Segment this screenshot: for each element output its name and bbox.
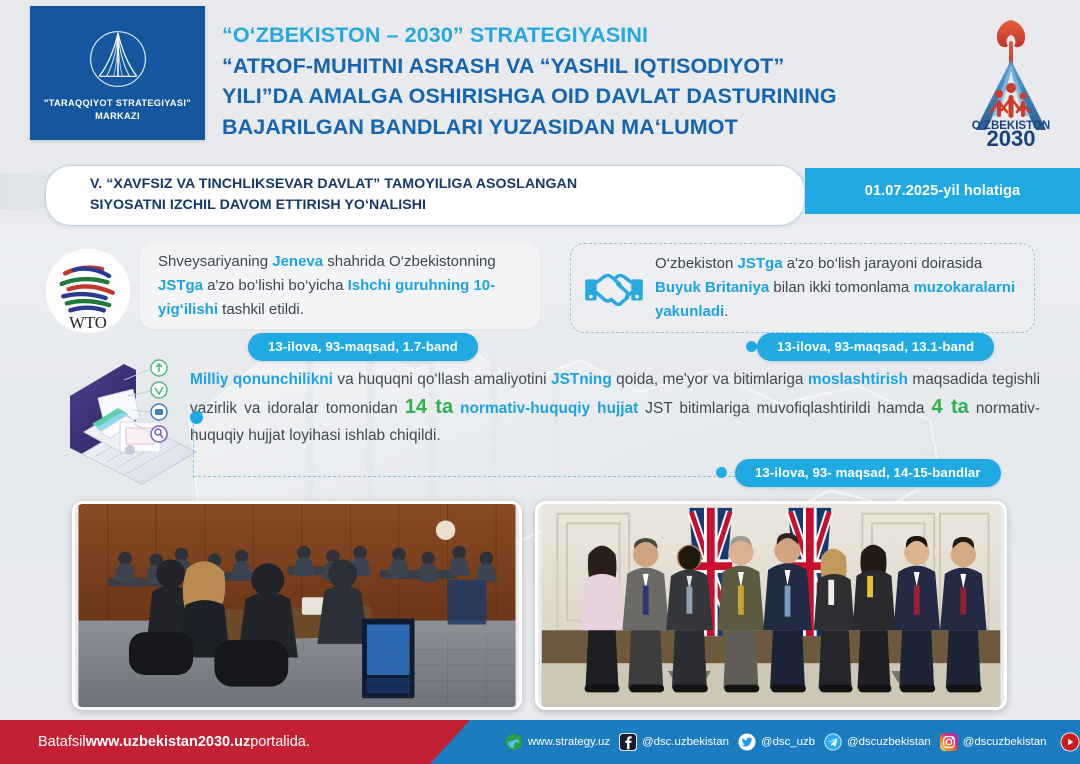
txt-hl: Jeneva: [272, 253, 323, 270]
badge-reference-3: 13-ilova, 93- maqsad, 14-15-bandlar: [735, 459, 1001, 487]
social-link-facebook[interactable]: @dsc.uzbekistan: [619, 733, 729, 751]
txt-seg: a'zo bo‘lish jarayoni doirasida: [783, 255, 983, 272]
card-right-text: O‘zbekiston JSTga a'zo bo‘lish jarayoni …: [655, 252, 1020, 323]
stat-number-4: 4 ta: [932, 396, 969, 418]
txt-seg: O‘zbekiston: [655, 255, 738, 272]
portal-url[interactable]: www.uzbekistan2030.uz: [86, 734, 251, 750]
card-wto-geneva: Shveysariyaning Jeneva shahrida O‘zbekis…: [140, 243, 540, 329]
portal-prefix: Batafsil: [38, 734, 86, 750]
photo-wto-working-group-meeting: [72, 501, 522, 710]
section-band: V. “XAVFSIZ VA TINCHLIKSEVAR DAVLAT” TAM…: [0, 165, 1080, 217]
photo-uzbekistan-uk-delegation: [535, 501, 1007, 710]
portal-suffix: portalida.: [250, 734, 310, 750]
infographic-page: "TARAQQIYOT STRATEGIYASI" MARKAZI “O‘ZBE…: [0, 0, 1080, 764]
social-label: @dscuzbekistan: [963, 736, 1047, 748]
social-links: www.strategy.uz @dsc.uzbekistan @dsc_uzb: [505, 720, 1080, 764]
stat-number-14: 14 ta: [405, 396, 453, 418]
status-date: 01.07.2025-yil holatiga: [805, 168, 1080, 214]
card-left-text: Shveysariyaning Jeneva shahrida O‘zbekis…: [158, 250, 524, 321]
title-line-1: “O‘ZBEKISTON – 2030” STRATEGIYASINI: [222, 20, 952, 51]
txt-hl: JSTning: [551, 371, 612, 388]
wto-logo: WTO: [44, 247, 132, 335]
txt-seg: va huquqni qo‘llash amaliyotini: [333, 371, 551, 388]
social-link-instagram[interactable]: @dscuzbekistan: [940, 733, 1047, 751]
middle-text: Milliy qonunchilikni va huquqni qo‘llash…: [190, 368, 1040, 448]
social-link-twitter[interactable]: @dsc_uzb: [738, 733, 815, 751]
connector-dot: [746, 341, 757, 352]
instagram-icon: [940, 733, 958, 751]
ozbekiston-2030-emblem: O‘ZBEKISTON 2030: [956, 8, 1066, 148]
txt-hl: normativ-huquqiy hujjat: [460, 400, 638, 417]
txt-seg: qoida, me'yor va bitimlariga: [612, 371, 808, 388]
txt-seg: .: [724, 303, 728, 320]
txt-hl: JSTga: [158, 277, 203, 294]
org-caption-line2: MARKAZI: [95, 111, 140, 121]
txt-seg: tashkil etildi.: [218, 301, 304, 318]
txt-seg: bilan ikki tomonlama: [769, 279, 913, 296]
txt-seg: shahrida O‘zbekistonning: [323, 253, 496, 270]
connector-dot: [716, 467, 727, 478]
social-label: @dsc.uzbekistan: [642, 736, 729, 748]
card-uk-negotiations: O‘zbekiston JSTga a'zo bo‘lish jarayoni …: [570, 243, 1035, 333]
title-line-4: BAJARILGAN BANDLARI YUZASIDAN MA‘LUMOT: [222, 112, 952, 143]
wto-label: WTO: [69, 313, 107, 332]
social-link-telegram[interactable]: @dscuzbekistan: [824, 733, 931, 751]
youtube-icon: [1060, 732, 1080, 752]
emblem-year: 2030: [987, 126, 1036, 148]
txt-hl: JSTga: [738, 255, 783, 272]
txt-seg: Shveysariyaning: [158, 253, 272, 270]
txt-hl: Milliy qonunchilikni: [190, 371, 333, 388]
org-caption-line1: "TARAQQIYOT STRATEGIYASI": [44, 98, 191, 108]
telegram-icon: [824, 733, 842, 751]
header: "TARAQQIYOT STRATEGIYASI" MARKAZI “O‘ZBE…: [0, 0, 1080, 152]
social-label: @dsc_uzb: [761, 736, 815, 748]
section-title-line2: SIYOSATNI IZCHIL DAVOM ETTIRISH YO‘NALIS…: [90, 195, 774, 216]
txt-seg: a'zo bo‘lishi bo‘yicha: [203, 277, 348, 294]
connector-line-horizontal: [193, 476, 741, 477]
section-title: V. “XAVFSIZ VA TINCHLIKSEVAR DAVLAT” TAM…: [45, 165, 805, 226]
org-logo-block: "TARAQQIYOT STRATEGIYASI" MARKAZI: [30, 6, 205, 140]
section-title-line1: V. “XAVFSIZ VA TINCHLIKSEVAR DAVLAT” TAM…: [90, 174, 774, 195]
twitter-icon: [738, 733, 756, 751]
title-line-3: YILI”DA AMALGA OSHIRISHGA OID DAVLAT DAS…: [222, 81, 952, 112]
social-label: @dscuzbekistan: [847, 736, 931, 748]
social-link-website[interactable]: www.strategy.uz: [505, 733, 610, 751]
title-line-2: “ATROF-MUHITNI ASRASH VA “YASHIL IQTISOD…: [222, 51, 952, 82]
connector-dot: [190, 411, 203, 424]
globe-icon: [505, 733, 523, 751]
social-label: www.strategy.uz: [528, 736, 610, 748]
txt-seg: JST bitimlariga muvofiqlashtirildi hamda: [638, 400, 931, 417]
brand-development-strategy-center[interactable]: Development Strategy Center: [1060, 729, 1080, 755]
handshake-icon: [583, 264, 645, 312]
facebook-icon: [619, 733, 637, 751]
badge-reference-2: 13-ilova, 93-maqsad, 13.1-band: [757, 333, 994, 361]
page-title: “O‘ZBEKISTON – 2030” STRATEGIYASINI “ATR…: [222, 20, 952, 142]
txt-hl: Buyuk Britaniya: [655, 279, 769, 296]
connector-line-vertical: [193, 424, 194, 478]
badge-reference-1: 13-ilova, 93-maqsad, 1.7-band: [248, 333, 478, 361]
txt-hl: moslashtirish: [808, 371, 908, 388]
footer: Batafsil www.uzbekistan2030.uz portalida…: [0, 720, 1080, 764]
portal-note: Batafsil www.uzbekistan2030.uz portalida…: [38, 720, 310, 764]
middle-statement: Milliy qonunchilikni va huquqni qo‘llash…: [190, 368, 1040, 448]
taraqqiyot-strategiyasi-markazi-logo: [82, 23, 154, 95]
